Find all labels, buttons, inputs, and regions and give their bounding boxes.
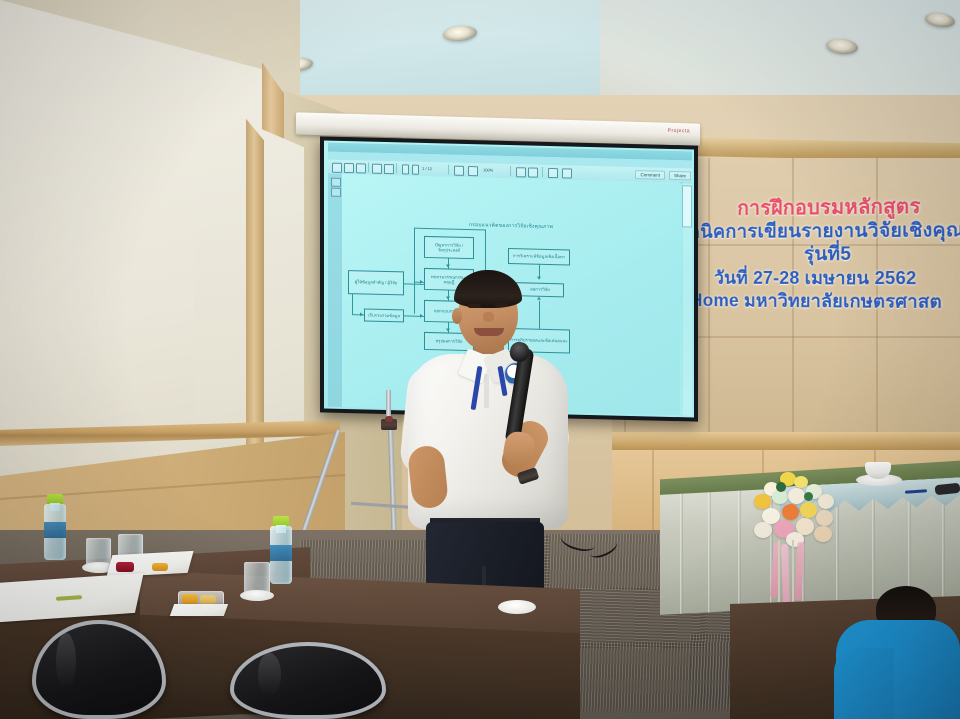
flow-connector: [352, 294, 353, 314]
email-icon[interactable]: [372, 164, 382, 174]
water-bottle: [270, 516, 292, 584]
zoom-out-icon[interactable]: [454, 166, 464, 176]
bottle-label: [44, 522, 66, 538]
snack-item: [200, 595, 216, 604]
tripod-knob: [385, 416, 393, 422]
banner-line-3: รุ่นที่5: [694, 244, 960, 265]
page-down-icon[interactable]: [412, 165, 419, 175]
presenter: [400, 270, 575, 600]
print-icon[interactable]: [356, 163, 366, 173]
snack-item: [182, 594, 198, 604]
napkin: [170, 604, 228, 616]
presenter-eye: [495, 303, 508, 307]
presenter-ear: [452, 308, 462, 324]
presenter-hair: [454, 270, 522, 308]
audience-shoulder: [834, 648, 894, 719]
event-banner: การฝึกอบรมหลักสูตร เทคนิคการเขียนรายงานว…: [694, 194, 960, 344]
presenter-eye: [468, 304, 481, 308]
zoom-level[interactable]: 100%: [483, 167, 493, 172]
flow-box: เก็บรวบรวมข้อมูล: [364, 308, 404, 322]
banner-line-4: วันที่ 27-28 เมษายน 2562: [694, 269, 953, 288]
banner-line-5: KU Home มหาวิทยาลัยเกษตรศาสต: [694, 291, 930, 311]
flow-box: ผู้ให้ข้อมูลสำคัญ / ผู้วิจัย: [348, 270, 404, 295]
water-bottle: [44, 494, 66, 560]
banner-line-1: การฝึกอบรมหลักสูตร: [694, 194, 960, 220]
share-button[interactable]: Share: [669, 171, 691, 181]
snack-item: [116, 562, 134, 572]
chair: [230, 642, 386, 719]
presenter-mouth: [474, 328, 504, 336]
sign-icon[interactable]: [562, 168, 572, 178]
glass-coaster: [240, 590, 274, 601]
zoom-in-icon[interactable]: [468, 166, 478, 176]
snack-item: [152, 563, 168, 571]
page-number-field[interactable]: 1 / 12: [422, 166, 432, 171]
flow-box: ปัญหาการวิจัย / วัตถุประสงค์: [424, 236, 474, 259]
photo-scene: การฝึกอบรมหลักสูตร เทคนิคการเขียนรายงานว…: [0, 0, 960, 719]
pdf-navigation-sidebar[interactable]: [328, 174, 342, 407]
pdf-panel-buttons: Comment Share: [635, 170, 691, 180]
fit-page-icon[interactable]: [516, 167, 526, 177]
page-up-icon[interactable]: [402, 164, 409, 174]
bottle-label: [270, 545, 292, 561]
slide-title: กรอบแนวคิดของการวิจัยเชิงคุณภาพ: [342, 218, 680, 234]
chair: [32, 620, 166, 719]
save-icon[interactable]: [344, 163, 354, 173]
flow-box: การวิเคราะห์ข้อมูลเชิงเนื้อหา: [508, 248, 570, 266]
fit-width-icon[interactable]: [528, 167, 538, 177]
fullscreen-icon[interactable]: [578, 169, 586, 177]
open-file-icon[interactable]: [332, 163, 342, 173]
bookmarks-icon[interactable]: [331, 188, 341, 197]
rotate-icon[interactable]: [548, 168, 558, 178]
page-view-icon[interactable]: [384, 164, 394, 174]
flow-arrow: [446, 264, 450, 267]
saucer: [498, 600, 536, 614]
pdf-scrollbar-thumb[interactable]: [682, 185, 692, 227]
housing-brand-label: Projecta: [668, 128, 690, 135]
shirt-placket: [484, 374, 489, 408]
presenter-nose: [483, 312, 494, 322]
comment-button[interactable]: Comment: [635, 170, 665, 180]
banner-line-2: เทคนิคการเขียนรายงานวิจัยเชิงคุณ: [694, 221, 941, 243]
audience-member: [836, 596, 960, 719]
flower-arrangement: [752, 470, 842, 550]
flow-arrow: [360, 312, 363, 316]
thumbnails-icon[interactable]: [331, 178, 341, 187]
